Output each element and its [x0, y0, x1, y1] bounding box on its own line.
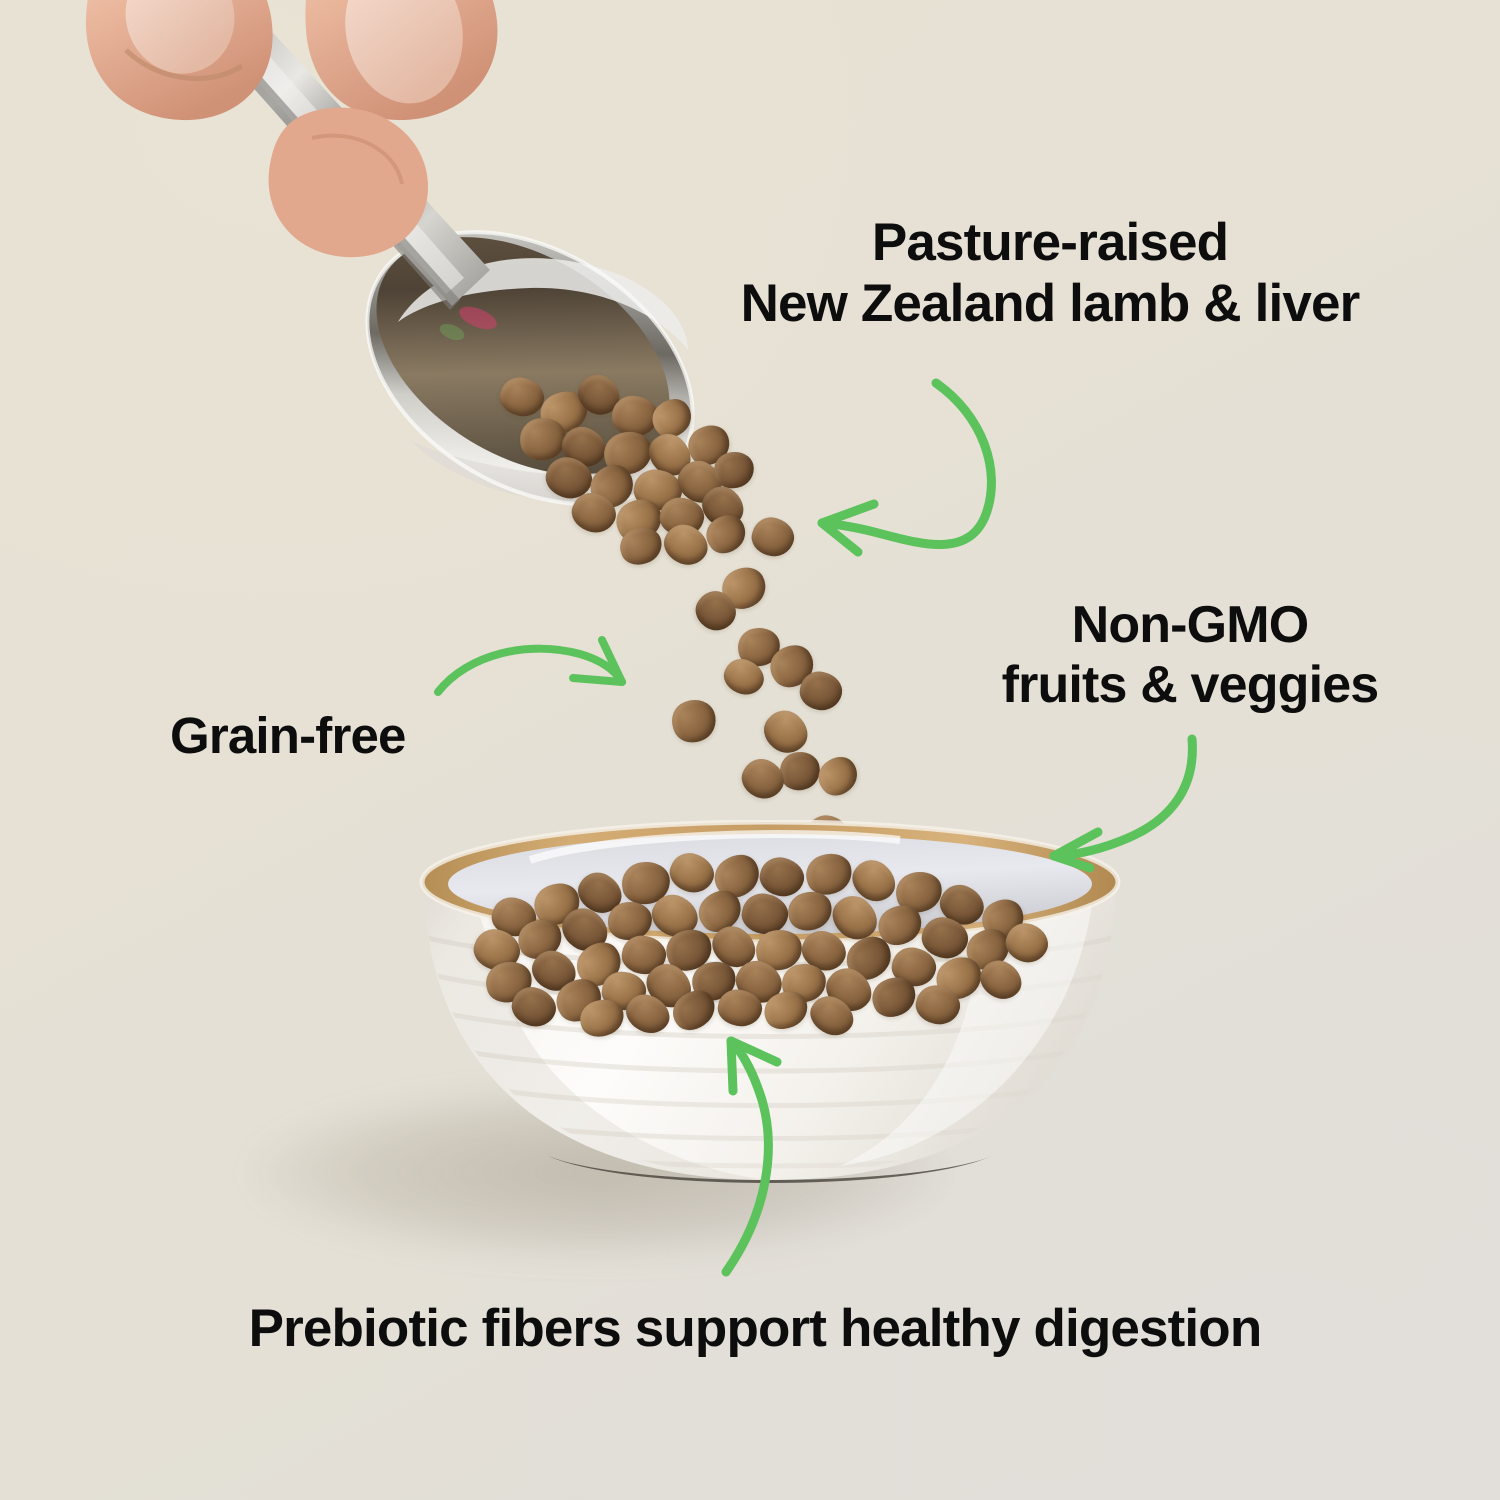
callout-grain-free: Grain-free	[170, 706, 500, 765]
product-feature-image: Pasture-raised New Zealand lamb & liver …	[0, 0, 1500, 1500]
callout-non-gmo-fruits-veggies: Non-GMO fruits & veggies	[955, 595, 1425, 716]
callout-prebiotic-fibers: Prebiotic fibers support healthy digesti…	[130, 1298, 1380, 1359]
callout-pasture-raised-lamb: Pasture-raised New Zealand lamb & liver	[690, 212, 1410, 335]
